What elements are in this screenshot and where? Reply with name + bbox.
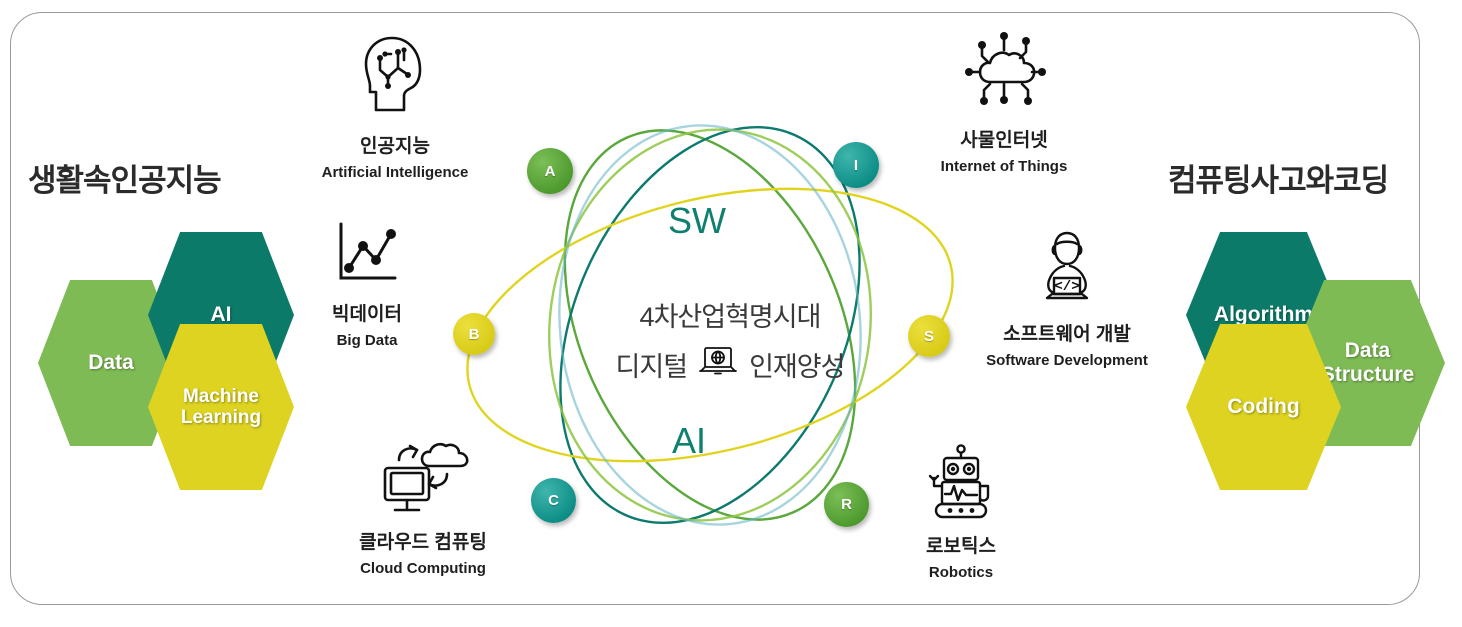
feature-en-label: Robotics — [880, 564, 1042, 581]
infographic-canvas: 생활속인공지능 Data AI MachineLearning 컴퓨팅사고와코딩… — [0, 0, 1462, 627]
feature-en-label: Big Data — [302, 332, 432, 349]
feature-en-label: Software Development — [963, 352, 1171, 369]
svg-text:</>: </> — [1054, 279, 1079, 295]
left-hexagon-cluster: Data AI MachineLearning — [38, 232, 300, 490]
hex-data-structure-label: DataStructure — [1315, 339, 1420, 386]
left-section-title: 생활속인공지능 — [28, 155, 221, 200]
feature-software-development[interactable]: </> 소프트웨어 개발 Software Development — [963, 228, 1171, 369]
developer-laptop-icon: </> — [963, 228, 1171, 315]
feature-kr-label: 소프트웨어 개발 — [963, 319, 1171, 346]
hex-algorithm-label: Algorithm — [1208, 303, 1319, 327]
center-label-sw: SW — [668, 200, 726, 242]
laptop-globe-icon — [697, 345, 739, 384]
badge-a[interactable]: A — [527, 148, 573, 194]
badge-s-label: S — [924, 328, 934, 345]
badge-a-label: A — [545, 163, 556, 180]
badge-r[interactable]: R — [824, 482, 869, 527]
hex-ai-label: AI — [205, 303, 238, 327]
feature-en-label: Cloud Computing — [318, 560, 528, 577]
feature-kr-label: 빅데이터 — [302, 299, 432, 326]
hex-machine-learning-label: MachineLearning — [175, 386, 267, 429]
badge-b-label: B — [469, 326, 480, 343]
badge-c[interactable]: C — [531, 478, 576, 523]
right-section-title: 컴퓨팅사고와코딩 — [1168, 155, 1388, 200]
badge-r-label: R — [841, 496, 852, 513]
right-hexagon-cluster: Algorithm DataStructure Coding — [1178, 232, 1440, 490]
center-headline-line2: 디지털 인재양성 — [540, 345, 920, 384]
center-label-ai: AI — [672, 420, 706, 462]
badge-c-label: C — [548, 492, 559, 509]
badge-b[interactable]: B — [453, 313, 495, 355]
badge-i-label: I — [854, 157, 858, 174]
hex-coding-label: Coding — [1221, 395, 1305, 419]
center-headline-line1: 4차산업혁명시대 — [540, 295, 920, 334]
badge-i[interactable]: I — [833, 142, 879, 188]
badge-s[interactable]: S — [908, 315, 950, 357]
feature-big-data[interactable]: 빅데이터 Big Data — [302, 218, 432, 349]
center-headline-post: 인재양성 — [749, 345, 844, 384]
center-headline-pre: 디지털 — [616, 345, 688, 384]
line-chart-icon — [302, 218, 432, 295]
hex-data-label: Data — [82, 351, 140, 375]
